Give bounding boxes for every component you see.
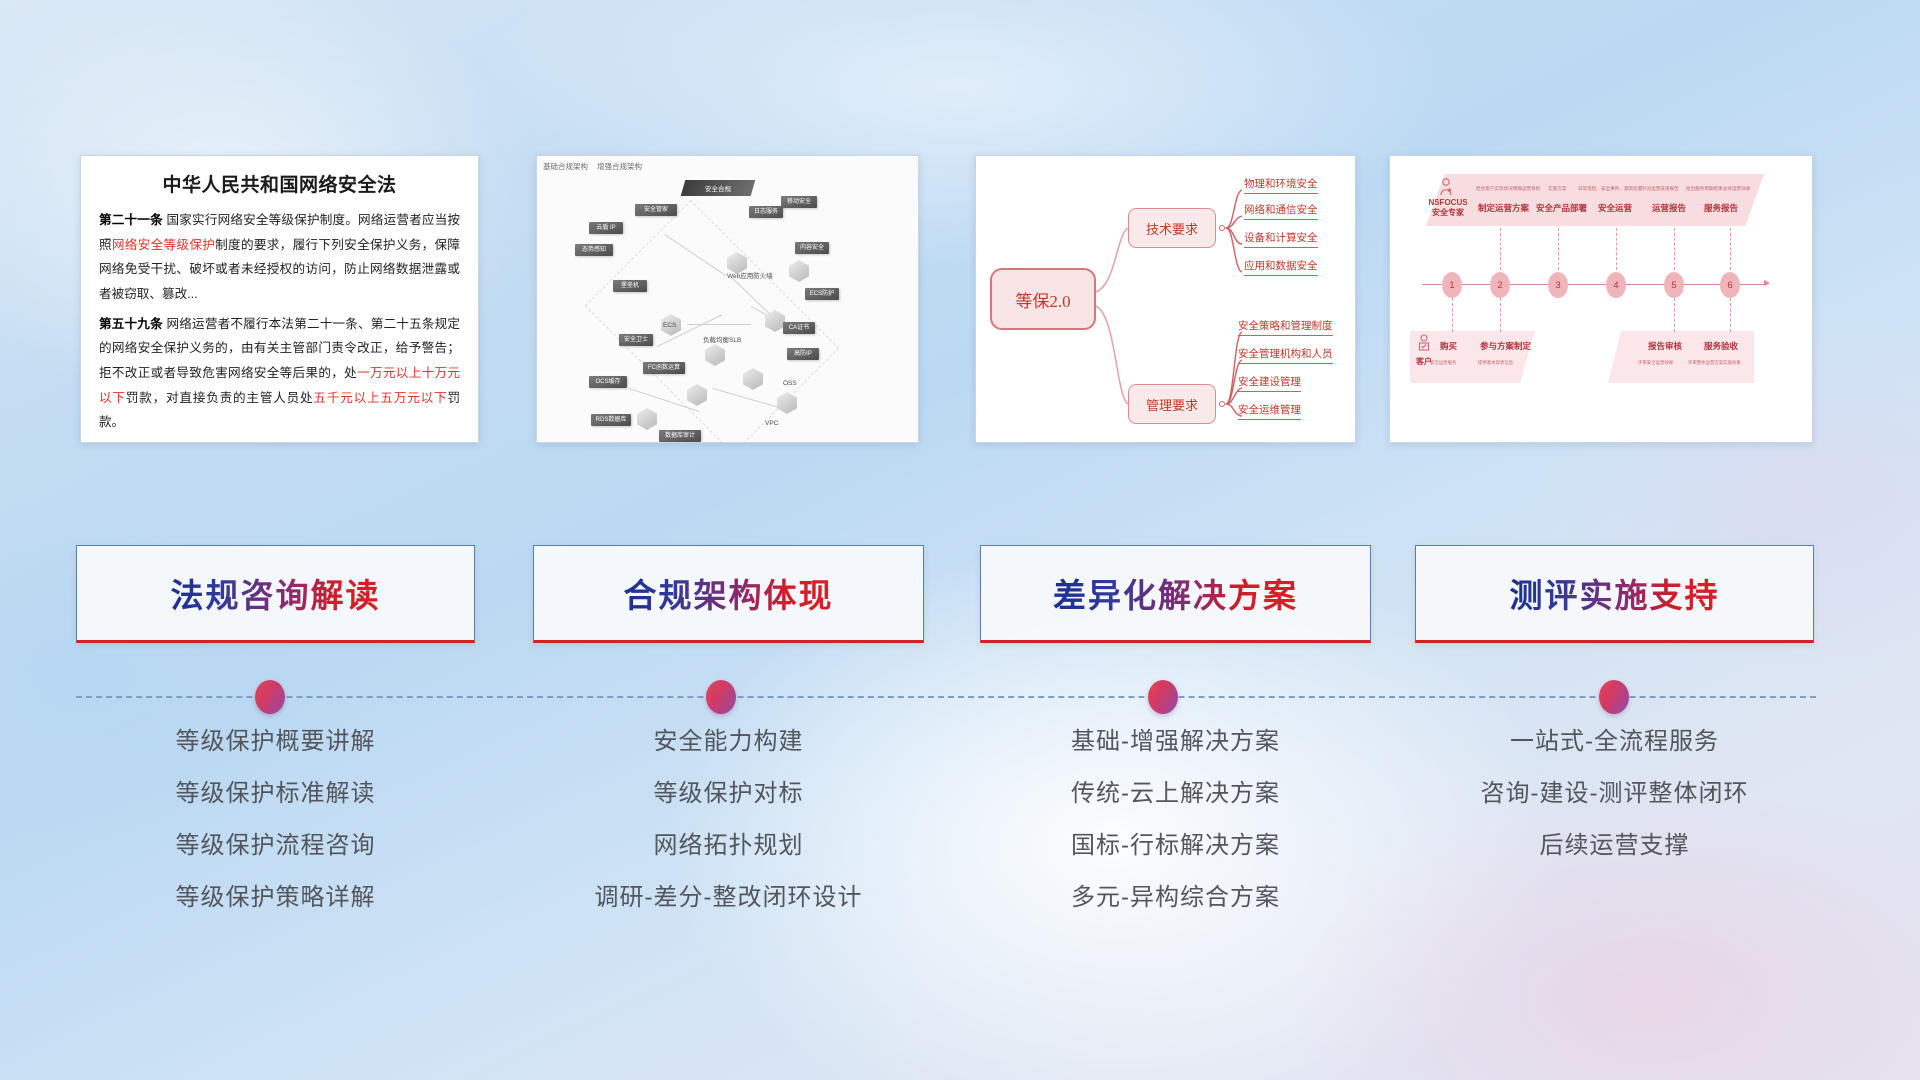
section-items-row: 等级保护概要讲解 等级保护标准解读 等级保护流程咨询 等级保护策略详解 安全能力…	[0, 730, 1920, 980]
architecture-node: 安全管家	[635, 204, 677, 216]
list-item: 多元-异构综合方案	[980, 886, 1371, 910]
nsfocus-axis-arrow-icon	[1764, 280, 1770, 286]
mindmap-leaf: 安全管理机构和人员	[1238, 350, 1333, 364]
section-title-label: 法规咨询解读	[171, 569, 381, 617]
law-title: 中华人民共和国网络安全法	[99, 170, 460, 197]
nsfocus-top-sub: 日常巡检、安全事件、漏洞处置	[1578, 186, 1642, 192]
list-item: 等级保护策略详解	[76, 886, 475, 910]
nsfocus-top-band	[1426, 174, 1764, 226]
list-item: 等级保护标准解读	[76, 782, 475, 806]
mindmap-leaf: 安全策略和管理制度	[1238, 322, 1333, 336]
law-article-59-text-b: 罚款，对直接负责的主管人员处	[126, 391, 314, 405]
architecture-node: FC函数运算	[643, 362, 685, 374]
architecture-label: OSS	[783, 380, 797, 387]
architecture-banner: 安全合规	[681, 180, 756, 196]
nsfocus-bottom-label: 服务验收	[1704, 340, 1738, 352]
nsfocus-top-sub: 结合客户实际状况明确运营目标	[1476, 186, 1540, 192]
architecture-tabs: 基础合规架构 增强合规架构	[543, 161, 642, 172]
law-article-21-highlight: 网络安全等级保护	[112, 238, 215, 252]
section-title-label: 差异化解决方案	[1053, 569, 1298, 617]
law-document: 中华人民共和国网络安全法 第二十一条 国家实行网络安全等级保护制度。网络运营者应…	[81, 156, 478, 443]
mindmap-leaf: 安全建设管理	[1238, 378, 1301, 392]
nsfocus-dash-connector	[1616, 228, 1617, 270]
nsfocus-dash-connector	[1452, 298, 1453, 332]
nsfocus-dash-connector	[1500, 228, 1501, 270]
section-title-row: 法规咨询解读 合规架构体现 差异化解决方案 测评实施支持	[0, 545, 1920, 655]
nsfocus-top-sub: 实施方案	[1548, 186, 1566, 192]
architecture-cube-node	[789, 260, 809, 282]
architecture-node: 数据库审计	[659, 430, 701, 442]
timeline-node-2[interactable]	[706, 680, 736, 714]
nsfocus-timeline-axis	[1422, 284, 1767, 285]
nsfocus-top-label: 服务报告	[1704, 202, 1738, 214]
architecture-label: VPC	[765, 420, 778, 427]
nsfocus-dash-connector	[1558, 228, 1559, 270]
section-title-box-2[interactable]: 合规架构体现	[533, 545, 924, 643]
nsfocus-top-label: 安全运营	[1598, 202, 1632, 214]
nsfocus-bottom-sub: 评审安全运营效果	[1638, 360, 1673, 366]
timeline-node-3[interactable]	[1148, 680, 1178, 714]
section-title-label: 测评实施支持	[1510, 569, 1720, 617]
card-cybersecurity-law[interactable]: 中华人民共和国网络安全法 第二十一条 国家实行网络安全等级保护制度。网络运营者应…	[80, 155, 479, 443]
architecture-cube-rds	[637, 408, 657, 430]
list-item: 等级保护对标	[533, 782, 924, 806]
mindmap-collapse-dot-icon[interactable]	[1219, 401, 1225, 407]
customer-person-icon	[1416, 334, 1432, 352]
timeline-dashed-line	[76, 696, 1816, 698]
nsfocus-step: 3	[1548, 272, 1568, 298]
nsfocus-top-sub: 针对运营成果报告	[1642, 186, 1679, 192]
nsfocus-bottom-label: 购买	[1440, 340, 1457, 352]
section-items-column-2: 安全能力构建 等级保护对标 网络拓扑规划 调研-差分-整改闭环设计	[533, 730, 924, 938]
section-title-box-4[interactable]: 测评实施支持	[1415, 545, 1814, 643]
card-nsfocus-service-timeline[interactable]: NSFOCUS 安全专家 客户 制定运营方案 结合客户实际状况明确运营目标 安全…	[1389, 155, 1813, 443]
architecture-tab-basic: 基础合规架构	[543, 161, 588, 172]
nsfocus-step: 6	[1720, 272, 1740, 298]
nsfocus-dash-connector	[1500, 298, 1501, 332]
nsfocus-expert-brand: NSFOCUS	[1423, 198, 1473, 208]
nsfocus-bottom-sub: 评审整体运营方案实施效果	[1688, 360, 1741, 366]
screenshot-cards-row: 中华人民共和国网络安全法 第二十一条 国家实行网络安全等级保护制度。网络运营者应…	[0, 0, 1920, 470]
mindmap-leaf: 应用和数据安全	[1244, 262, 1318, 276]
mindmap-branch-management: 管理要求	[1128, 384, 1216, 424]
list-item: 等级保护概要讲解	[76, 730, 475, 754]
law-article-59: 第五十九条 网络运营者不履行本法第二十一条、第二十五条规定的网络安全保护义务的，…	[99, 312, 460, 435]
section-title-box-3[interactable]: 差异化解决方案	[980, 545, 1371, 643]
mindmap-leaf: 设备和计算安全	[1244, 234, 1318, 248]
list-item: 网络拓扑规划	[533, 834, 924, 858]
nsfocus-bottom-sub: 安全运营服务	[1430, 360, 1456, 366]
law-article-21-label: 第二十一条	[99, 213, 163, 227]
mindmap-leaf: 安全运维管理	[1238, 406, 1301, 420]
architecture-label: Web应用防火墙	[727, 270, 773, 280]
list-item: 基础-增强解决方案	[980, 730, 1371, 754]
nsfocus-expert-title: 安全专家	[1423, 208, 1473, 218]
architecture-diagram: 基础合规架构 增强合规架构 安全合规	[537, 156, 918, 442]
list-item: 等级保护流程咨询	[76, 834, 475, 858]
timeline-node-1[interactable]	[255, 680, 285, 714]
section-title-box-1[interactable]: 法规咨询解读	[76, 545, 475, 643]
architecture-label: 负载均衡SLB	[703, 334, 741, 344]
architecture-tab-enhanced: 增强合规架构	[597, 161, 642, 172]
nsfocus-bottom-label: 参与方案制定	[1480, 340, 1531, 352]
nsfocus-timeline-diagram: NSFOCUS 安全专家 客户 制定运营方案 结合客户实际状况明确运营目标 安全…	[1390, 156, 1812, 442]
nsfocus-step: 1	[1442, 272, 1462, 298]
list-item: 安全能力构建	[533, 730, 924, 754]
architecture-node: 内容安全	[795, 242, 829, 254]
architecture-node: CA证书	[783, 322, 815, 334]
architecture-node: 云盾 IP	[589, 222, 623, 234]
card-cloud-architecture[interactable]: 基础合规架构 增强合规架构 安全合规	[536, 155, 919, 443]
list-item: 调研-差分-整改闭环设计	[533, 886, 924, 910]
law-article-59-highlight-2: 五千元以上五万元以下	[313, 391, 447, 405]
timeline-node-4[interactable]	[1599, 680, 1629, 714]
nsfocus-top-label: 运营报告	[1652, 202, 1686, 214]
list-item: 国标-行标解决方案	[980, 834, 1371, 858]
list-item: 后续运营支撑	[1415, 834, 1814, 858]
nsfocus-dash-connector	[1730, 298, 1731, 332]
nsfocus-top-label: 制定运营方案	[1478, 202, 1529, 214]
nsfocus-bottom-label: 报告审核	[1648, 340, 1682, 352]
architecture-label: ECS	[663, 322, 676, 329]
nsfocus-dash-connector	[1674, 228, 1675, 270]
mindmap-collapse-dot-icon[interactable]	[1219, 225, 1225, 231]
architecture-node: OCS缓存	[589, 376, 627, 388]
section-title-label: 合规架构体现	[624, 569, 834, 617]
mindmap-branch-technical: 技术要求	[1128, 208, 1216, 248]
nsfocus-expert-role: NSFOCUS 安全专家	[1423, 198, 1473, 218]
section-items-column-1: 等级保护概要讲解 等级保护标准解读 等级保护流程咨询 等级保护策略详解	[76, 730, 475, 938]
list-item: 传统-云上解决方案	[980, 782, 1371, 806]
architecture-node: 高防IP	[787, 348, 819, 360]
architecture-node: 日志服务	[749, 206, 783, 218]
nsfocus-dash-connector	[1730, 228, 1731, 270]
nsfocus-bottom-sub: 提供基本现状信息	[1478, 360, 1513, 366]
architecture-node: RDS数据库	[591, 414, 631, 426]
nsfocus-dash-connector	[1674, 298, 1675, 332]
law-article-59-label: 第五十九条	[99, 317, 163, 331]
architecture-node: 态势感知	[575, 244, 613, 256]
list-item: 一站式-全流程服务	[1415, 730, 1814, 754]
mindmap-leaf: 物理和环境安全	[1244, 180, 1318, 194]
nsfocus-top-sub: 给出服务周期结束总体运营效果	[1686, 186, 1750, 192]
architecture-banner-label: 安全合规	[683, 180, 753, 196]
nsfocus-step: 4	[1606, 272, 1626, 298]
architecture-node: 安全卫士	[619, 334, 653, 346]
card-mindmap-dengbao[interactable]: 等保2.0 技术要求 管理要求 物理和环境安全	[975, 155, 1356, 443]
security-expert-person-icon	[1438, 178, 1454, 196]
architecture-connector	[687, 324, 751, 325]
architecture-node: 堡垒机	[613, 280, 647, 292]
section-items-column-3: 基础-增强解决方案 传统-云上解决方案 国标-行标解决方案 多元-异构综合方案	[980, 730, 1371, 938]
nsfocus-bottom-band-right	[1608, 331, 1754, 383]
nsfocus-step: 2	[1490, 272, 1510, 298]
architecture-node: ECS防护	[805, 288, 839, 300]
mindmap-leaf: 网络和通信安全	[1244, 206, 1318, 220]
section-items-column-4: 一站式-全流程服务 咨询-建设-测评整体闭环 后续运营支撑	[1415, 730, 1814, 886]
mindmap-diagram: 等保2.0 技术要求 管理要求 物理和环境安全	[976, 156, 1355, 442]
architecture-node: 移动安全	[781, 196, 817, 208]
list-item: 咨询-建设-测评整体闭环	[1415, 782, 1814, 806]
nsfocus-top-label: 安全产品部署	[1536, 202, 1587, 214]
nsfocus-step: 5	[1664, 272, 1684, 298]
law-article-21: 第二十一条 国家实行网络安全等级保护制度。网络运营者应当按照网络安全等级保护制度…	[99, 208, 460, 307]
